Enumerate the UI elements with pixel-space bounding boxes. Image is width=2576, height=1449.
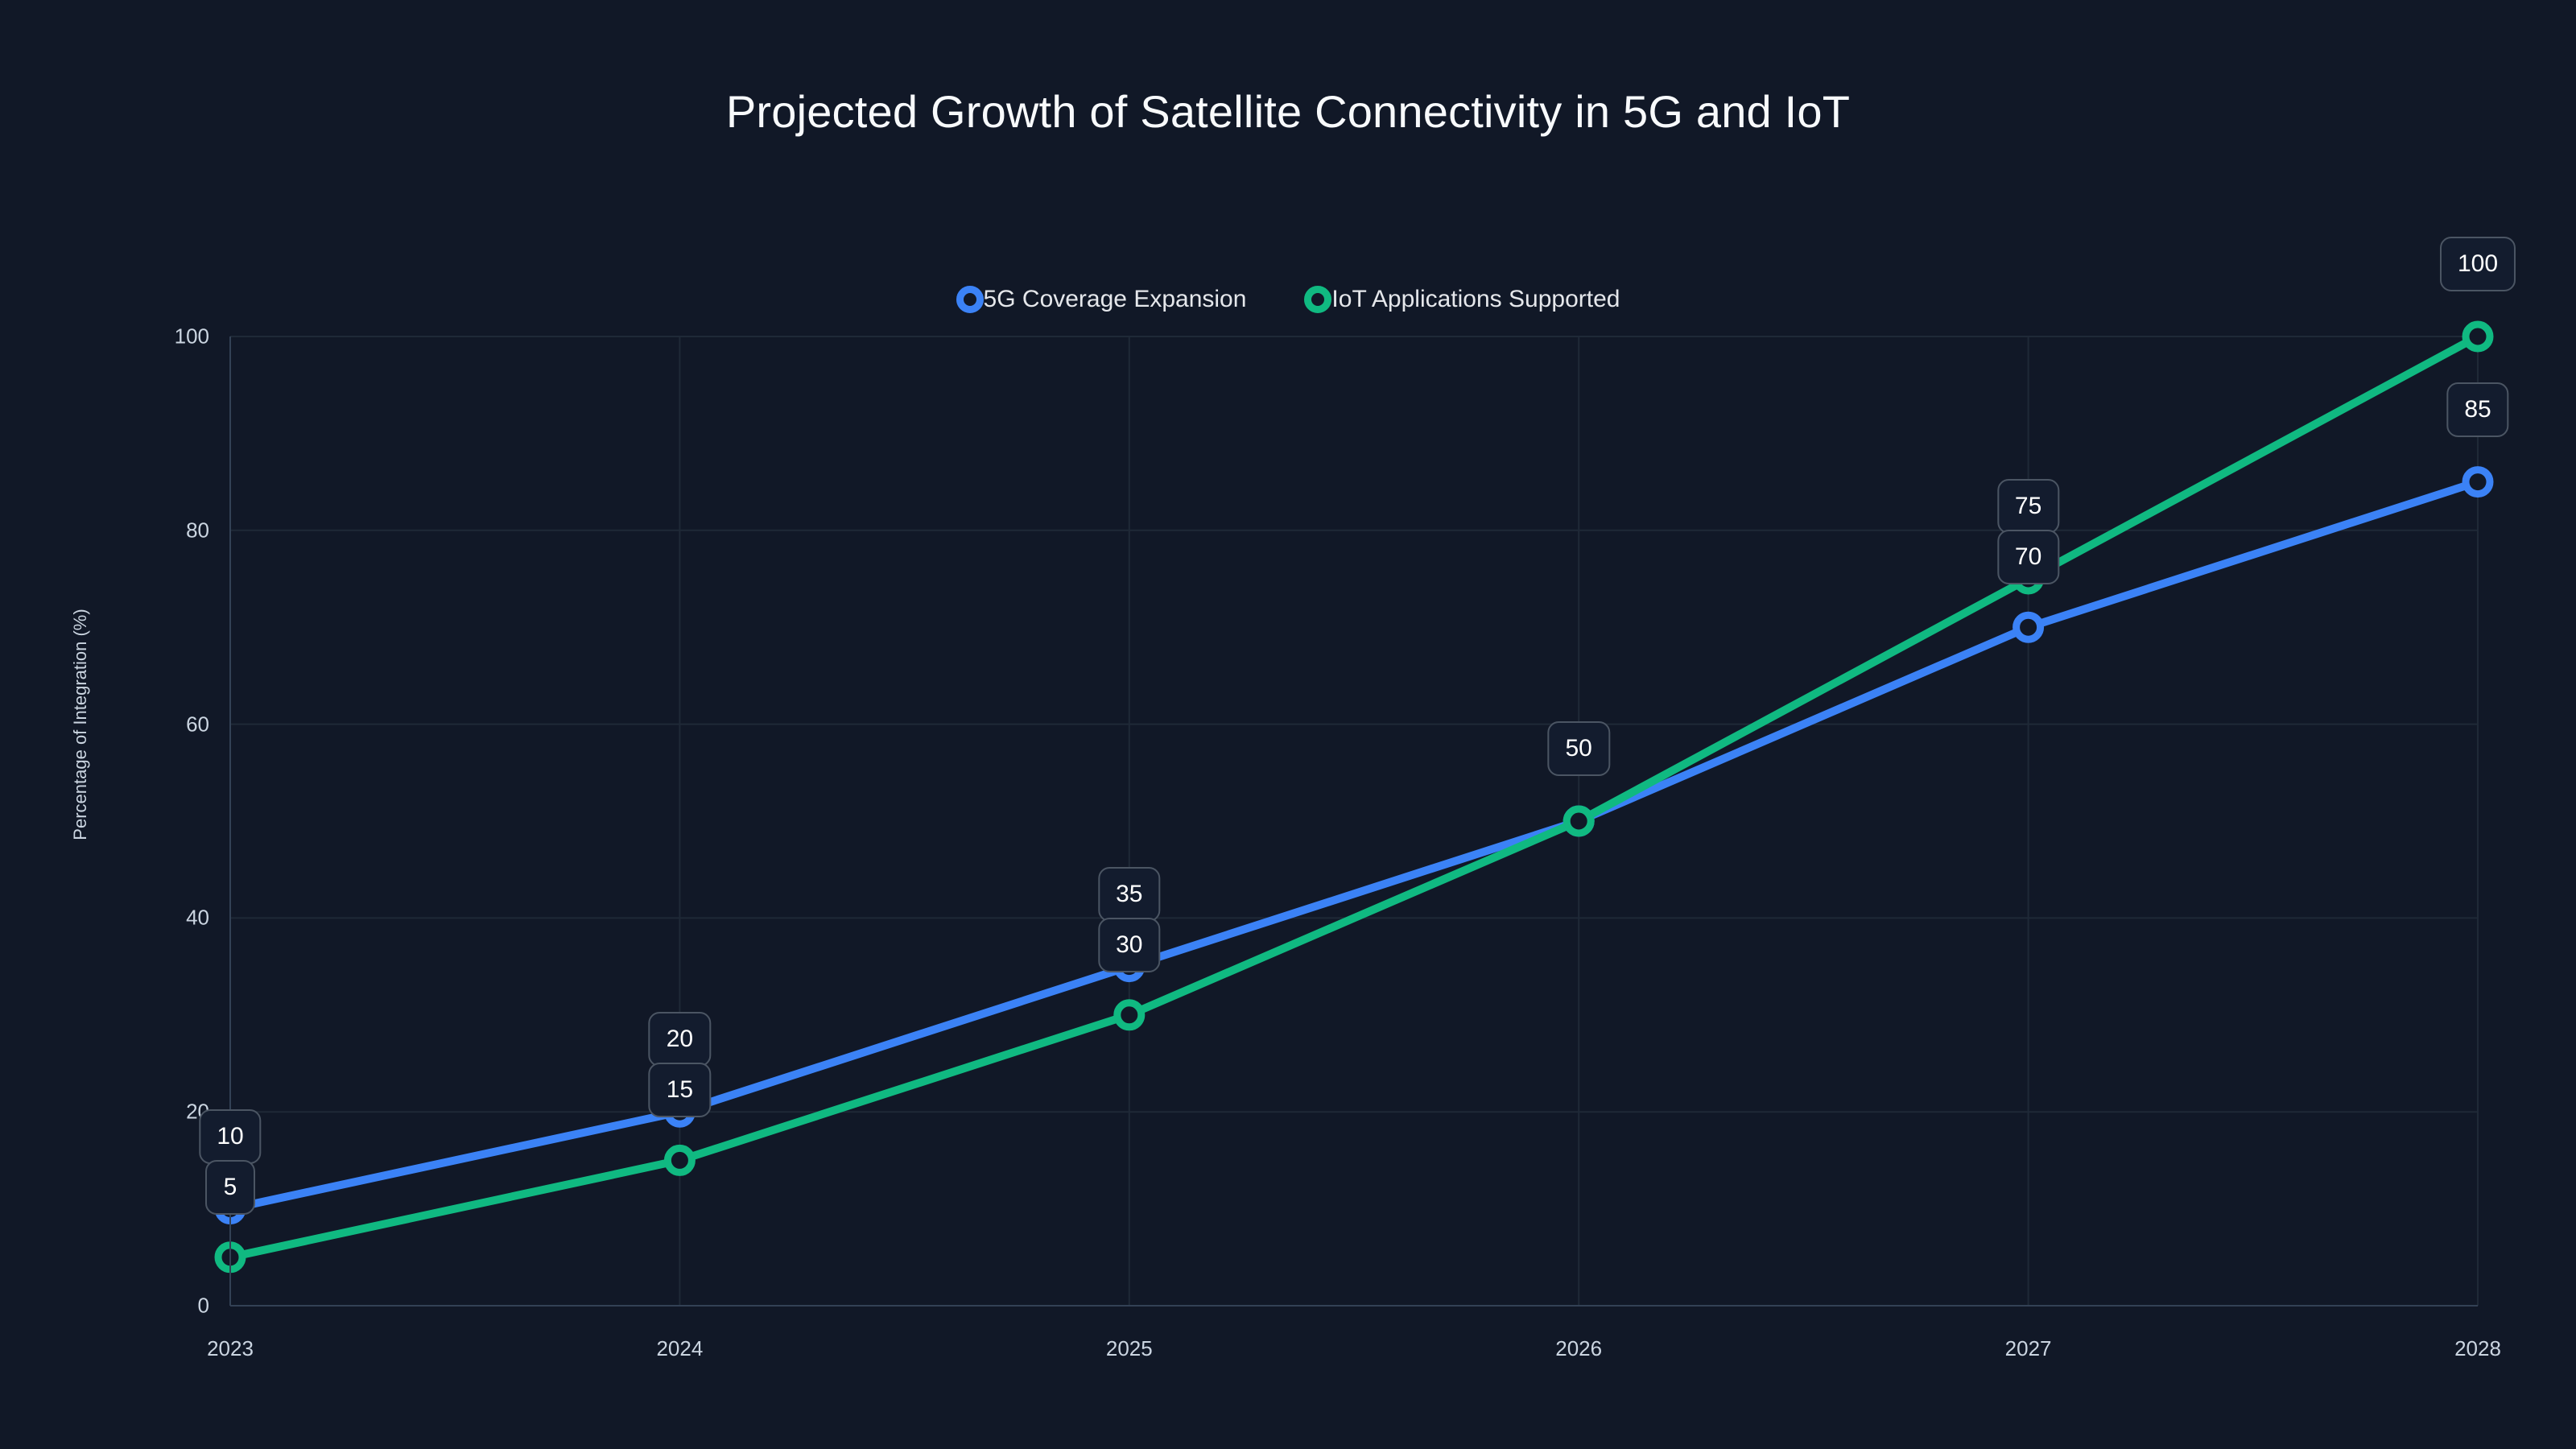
data-point-label: 100 xyxy=(2440,237,2516,291)
plot-area xyxy=(0,0,2576,1449)
y-axis-tick-label: 60 xyxy=(145,712,209,737)
x-axis-tick-label: 2027 xyxy=(2005,1336,2052,1361)
series-layer xyxy=(218,324,2490,1269)
data-point-marker[interactable] xyxy=(2466,470,2490,494)
data-point-marker[interactable] xyxy=(1567,809,1591,833)
y-axis-tick-label: 40 xyxy=(145,906,209,931)
x-axis-tick-label: 2023 xyxy=(207,1336,254,1361)
data-point-label: 35 xyxy=(1098,867,1160,922)
data-point-marker[interactable] xyxy=(1117,1003,1141,1027)
data-point-label: 5 xyxy=(205,1160,255,1215)
x-axis-tick-label: 2024 xyxy=(656,1336,703,1361)
series-line-5g-coverage-expansion xyxy=(230,482,2478,1209)
data-point-marker[interactable] xyxy=(2017,615,2041,639)
x-axis-tick-label: 2025 xyxy=(1106,1336,1153,1361)
chart-container: Projected Growth of Satellite Connectivi… xyxy=(0,0,2576,1449)
x-axis-tick-label: 2026 xyxy=(1555,1336,1602,1361)
grid-lines xyxy=(230,336,2478,1306)
x-axis-tick-label: 2028 xyxy=(2454,1336,2501,1361)
data-point-label: 75 xyxy=(1997,479,2059,534)
y-axis-tick-label: 0 xyxy=(145,1294,209,1319)
data-point-label: 50 xyxy=(1548,721,1610,776)
data-point-label: 10 xyxy=(199,1109,261,1164)
y-axis-tick-label: 100 xyxy=(145,324,209,349)
data-point-label: 30 xyxy=(1098,918,1160,972)
data-point-label: 70 xyxy=(1997,530,2059,584)
series-line-iot-applications-supported xyxy=(230,336,2478,1257)
y-axis-tick-label: 80 xyxy=(145,518,209,543)
data-point-label: 85 xyxy=(2446,382,2508,437)
data-point-marker[interactable] xyxy=(2466,324,2490,349)
data-point-label: 20 xyxy=(649,1012,711,1067)
data-point-marker[interactable] xyxy=(667,1148,691,1172)
data-point-label: 15 xyxy=(649,1063,711,1117)
